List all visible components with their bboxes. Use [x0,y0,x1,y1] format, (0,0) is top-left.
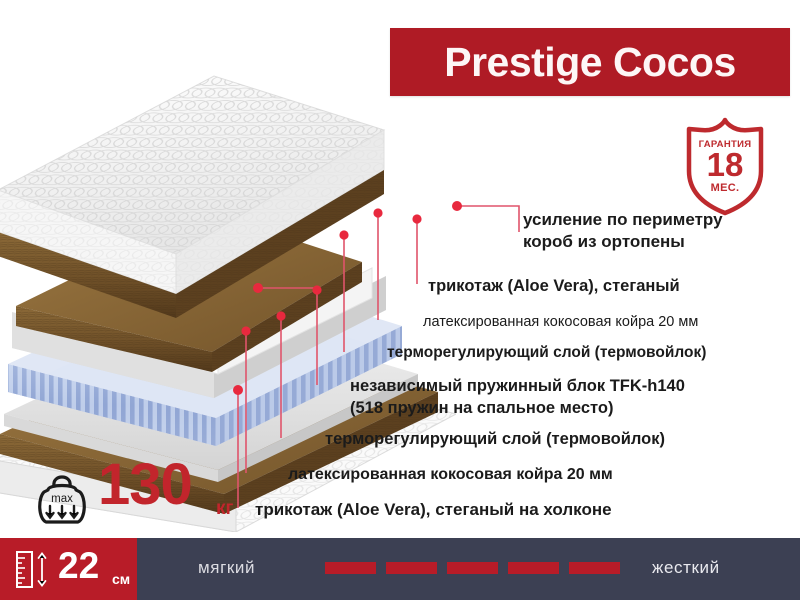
firmness-dash-4 [508,562,559,574]
callout-knit-bottom: трикотаж (Aloe Vera), стеганый на холкон… [255,500,612,519]
callout-spring-line1: независимый пружинный блок TFK-h140 [350,375,685,397]
page-title: Prestige Cocos [444,42,736,83]
kettlebell-max-label: max [51,493,73,505]
callout-perimeter-line2: короб из ортопены [523,231,723,253]
firmness-dash-5 [569,562,620,574]
firmness-dash-3 [447,562,498,574]
firmness-dash-2 [386,562,437,574]
warranty-unit: МЕС. [679,182,771,194]
callout-coir-top: латексированная кокосовая койра 20 мм [423,313,698,332]
callout-felt-bottom: терморегулирующий слой (термовойлок) [325,430,665,449]
callout-spring-block: независимый пружинный блок TFK-h140 (518… [350,375,685,419]
warranty-value: 18 [679,147,771,183]
product-infographic: Prestige Cocos ГАРАНТИЯ 18 МЕС. [0,0,800,600]
height-panel: 22 см [0,538,137,600]
max-weight-unit: кг [216,498,233,520]
ruler-icon [14,550,58,589]
height-unit: см [112,571,130,587]
callout-spring-line2: (518 пружин на спальное место) [350,397,685,419]
callout-perimeter-line1: усиление по периметру [523,209,723,231]
height-value: 22 [58,547,99,584]
kettlebell-icon: max [34,466,90,528]
firmness-dash-1 [325,562,376,574]
callout-perimeter: усиление по периметру короб из ортопены [523,209,723,253]
firmness-hard-label: жесткий [652,558,720,578]
warranty-badge: ГАРАНТИЯ 18 МЕС. [679,116,771,216]
mattress-illustration [0,62,456,532]
firmness-soft-label: мягкий [198,558,255,578]
callout-knit-top: трикотаж (Aloe Vera), стеганый [428,277,680,296]
max-weight-value: 130 [98,456,192,514]
callout-felt-top: терморегулирующий слой (термовойлок) [387,343,706,362]
callout-coir-bottom: латексированная кокосовая койра 20 мм [288,465,613,484]
